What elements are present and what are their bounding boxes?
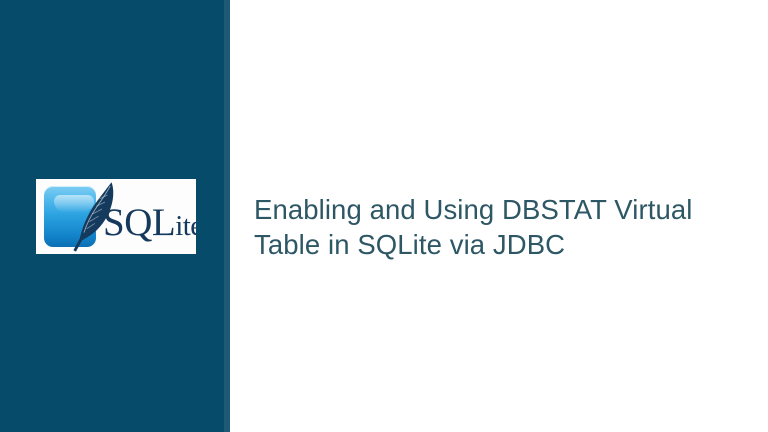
sqlite-logo-inner: SQLite bbox=[36, 179, 196, 254]
sqlite-logo: SQLite bbox=[36, 179, 196, 254]
slide-title: Enabling and Using DBSTAT Virtual Table … bbox=[254, 192, 746, 262]
sqlite-wordmark: SQLite bbox=[103, 203, 196, 242]
sidebar-edge-accent bbox=[224, 0, 230, 432]
sqlite-wordmark-secondary: ite bbox=[175, 210, 196, 242]
title-slide: SQLite Enabling and Using DBSTAT Virtual… bbox=[0, 0, 768, 432]
sqlite-wordmark-primary: SQL bbox=[103, 201, 175, 244]
